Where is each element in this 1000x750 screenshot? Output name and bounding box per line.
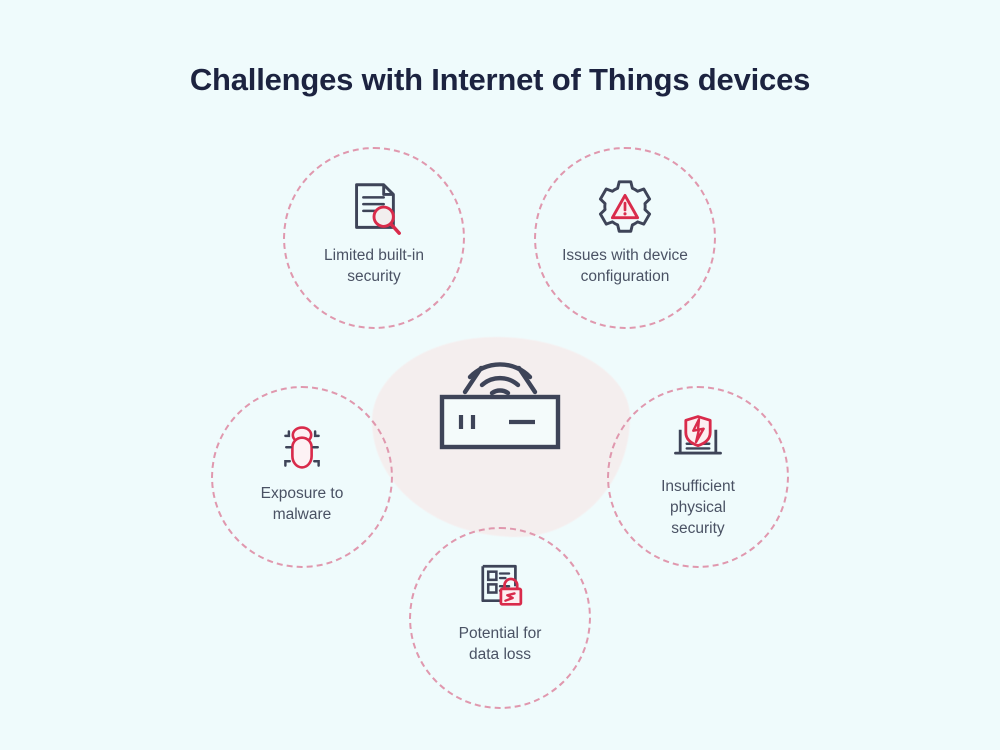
node-label: Exposure to malware	[253, 483, 352, 525]
laptop-broken-shield-icon	[668, 410, 728, 470]
node-issues-with-device-configuration[interactable]: Issues with device configuration	[534, 147, 716, 329]
node-label: Issues with device configuration	[554, 245, 696, 287]
node-label: Potential for data loss	[451, 623, 550, 665]
page-title: Challenges with Internet of Things devic…	[0, 62, 1000, 98]
checklist-padlock-icon	[471, 559, 529, 617]
infographic-canvas: Challenges with Internet of Things devic…	[0, 0, 1000, 750]
gear-warning-icon	[594, 177, 656, 239]
node-exposure-to-malware[interactable]: Exposure to malware	[211, 386, 393, 568]
node-label: Limited built-in security	[316, 245, 432, 287]
bug-icon	[274, 421, 330, 477]
node-insufficient-physical-security[interactable]: Insufficient physical security	[607, 386, 789, 568]
node-limited-built-in-security[interactable]: Limited built-in security	[283, 147, 465, 329]
document-magnifier-icon	[343, 177, 405, 239]
node-potential-for-data-loss[interactable]: Potential for data loss	[409, 527, 591, 709]
wifi-router-icon	[425, 352, 575, 472]
node-label: Insufficient physical security	[653, 476, 743, 539]
